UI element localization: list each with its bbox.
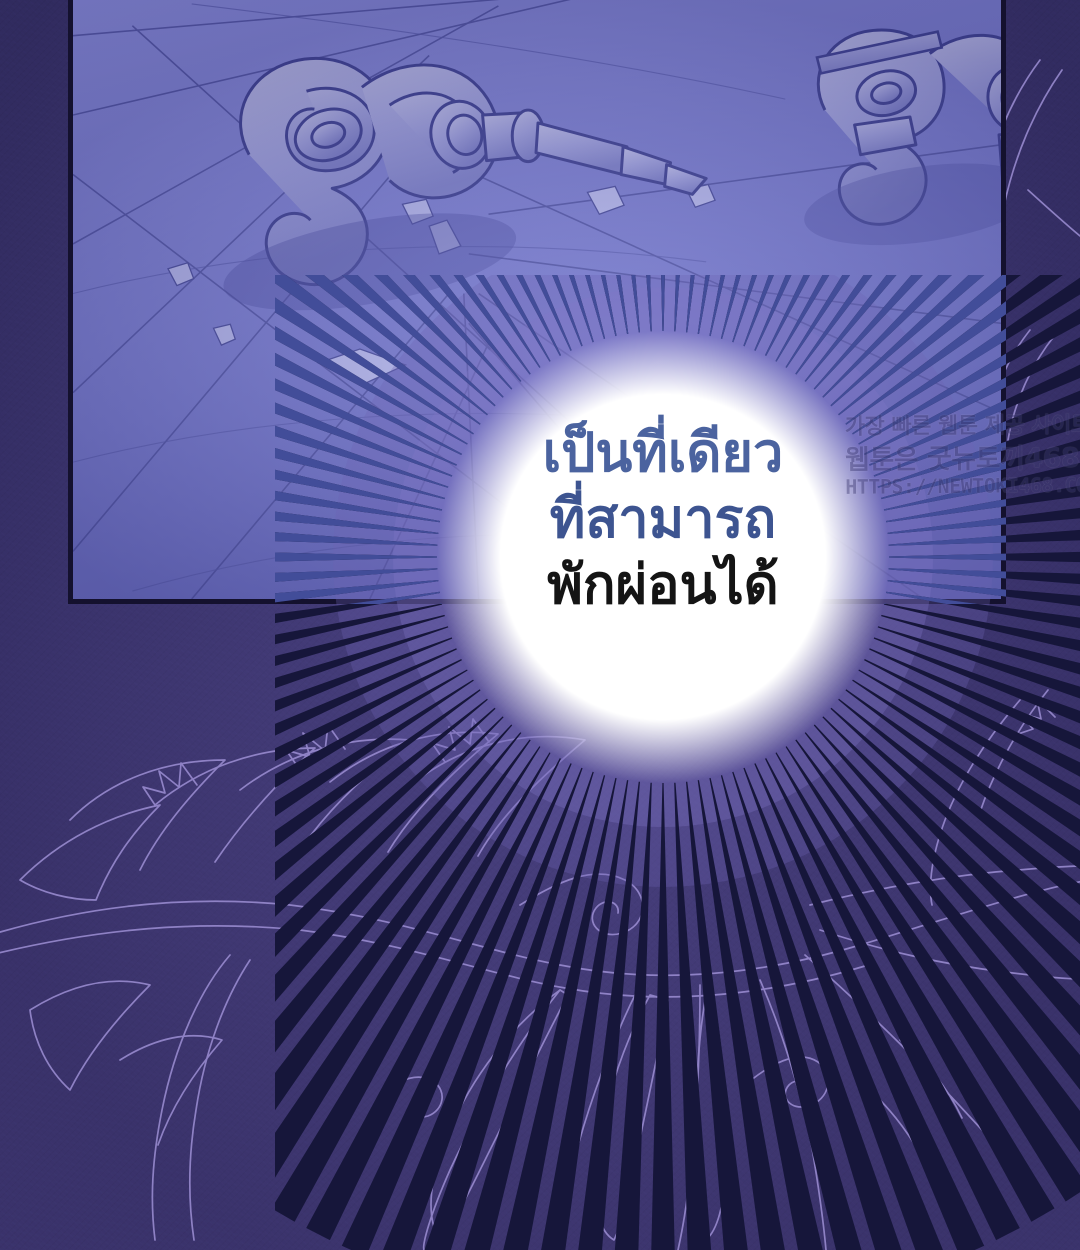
speech-line-2: ที่สามารถ [428,486,898,552]
speech-line-1: เป็นที่เดียว [428,420,898,486]
speech-line-3: พักผ่อนได้ [428,552,898,618]
speech-text: เป็นที่เดียว ที่สามารถ พักผ่อนได้ [428,420,898,618]
comic-page: เป็นที่เดียว ที่สามารถ พักผ่อนได้ 가장 빠른 … [0,0,1080,1250]
